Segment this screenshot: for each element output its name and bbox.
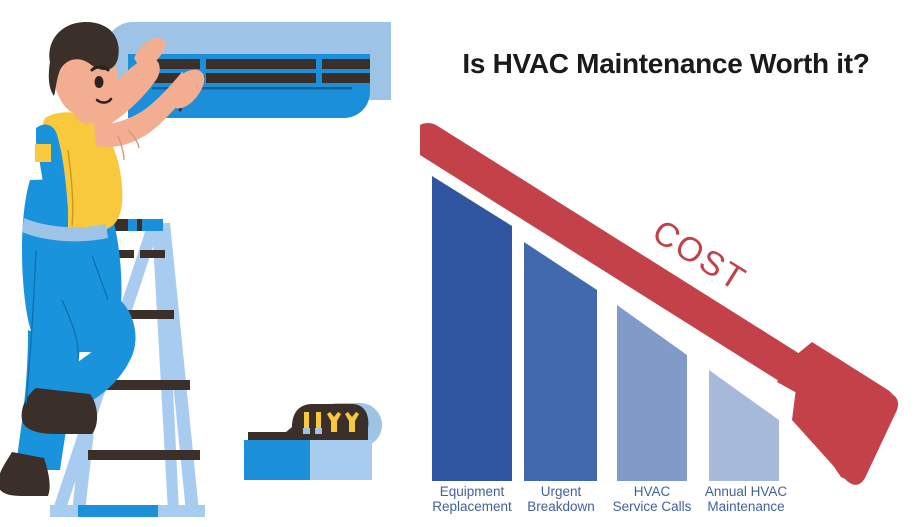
toolbox-body-left xyxy=(244,440,310,480)
bar-label-line1: Urgent xyxy=(541,484,582,499)
bar-label-line1: Equipment xyxy=(440,484,505,499)
bar-urgent-breakdown[interactable] xyxy=(524,242,597,481)
ac-louver-slat xyxy=(206,59,316,69)
bar-equipment-replacement[interactable] xyxy=(432,176,512,481)
bar-label-hvac-service-calls: HVAC Service Calls xyxy=(608,484,696,514)
toolbox xyxy=(244,403,382,480)
ladder-top-accent xyxy=(128,219,137,231)
bar-label-line1: HVAC xyxy=(634,484,671,499)
infographic-canvas: Is HVAC Maintenance Worth it? COST Equip… xyxy=(0,0,915,527)
technician-boot-front xyxy=(22,388,97,434)
technician-boot-back xyxy=(0,452,50,496)
hvac-technician-illustration xyxy=(0,0,420,527)
ladder-base-accent xyxy=(78,505,158,517)
bar-label-line2: Maintenance xyxy=(698,499,794,514)
bar-annual-hvac-maintenance[interactable] xyxy=(709,370,779,481)
ac-louver-slat xyxy=(206,73,316,83)
bar-label-line2: Breakdown xyxy=(515,499,607,514)
ladder-step xyxy=(88,450,200,460)
screwdriver-tip xyxy=(315,428,322,434)
bar-hvac-service-calls[interactable] xyxy=(617,305,687,481)
bar-label-row: Equipment Replacement Urgent Breakdown H… xyxy=(420,484,915,527)
cost-arrow-head-fill xyxy=(792,357,898,485)
technician-eye xyxy=(95,76,104,88)
overall-buckle xyxy=(35,144,51,162)
bar-label-line2: Replacement xyxy=(422,499,522,514)
cost-bar-chart: COST xyxy=(420,120,915,520)
ladder-step xyxy=(140,250,165,258)
page-title: Is HVAC Maintenance Worth it? xyxy=(426,48,906,80)
screwdriver-tip xyxy=(303,428,310,434)
bar-label-equipment-replacement: Equipment Replacement xyxy=(422,484,522,514)
ladder-top-accent xyxy=(142,219,163,231)
bar-label-urgent-breakdown: Urgent Breakdown xyxy=(515,484,607,514)
ac-louver-slat xyxy=(322,73,370,83)
bar-label-line2: Service Calls xyxy=(608,499,696,514)
ac-louver-slat xyxy=(322,59,370,69)
bar-label-annual-hvac-maintenance: Annual HVAC Maintenance xyxy=(698,484,794,514)
bar-label-line1: Annual HVAC xyxy=(705,484,787,499)
